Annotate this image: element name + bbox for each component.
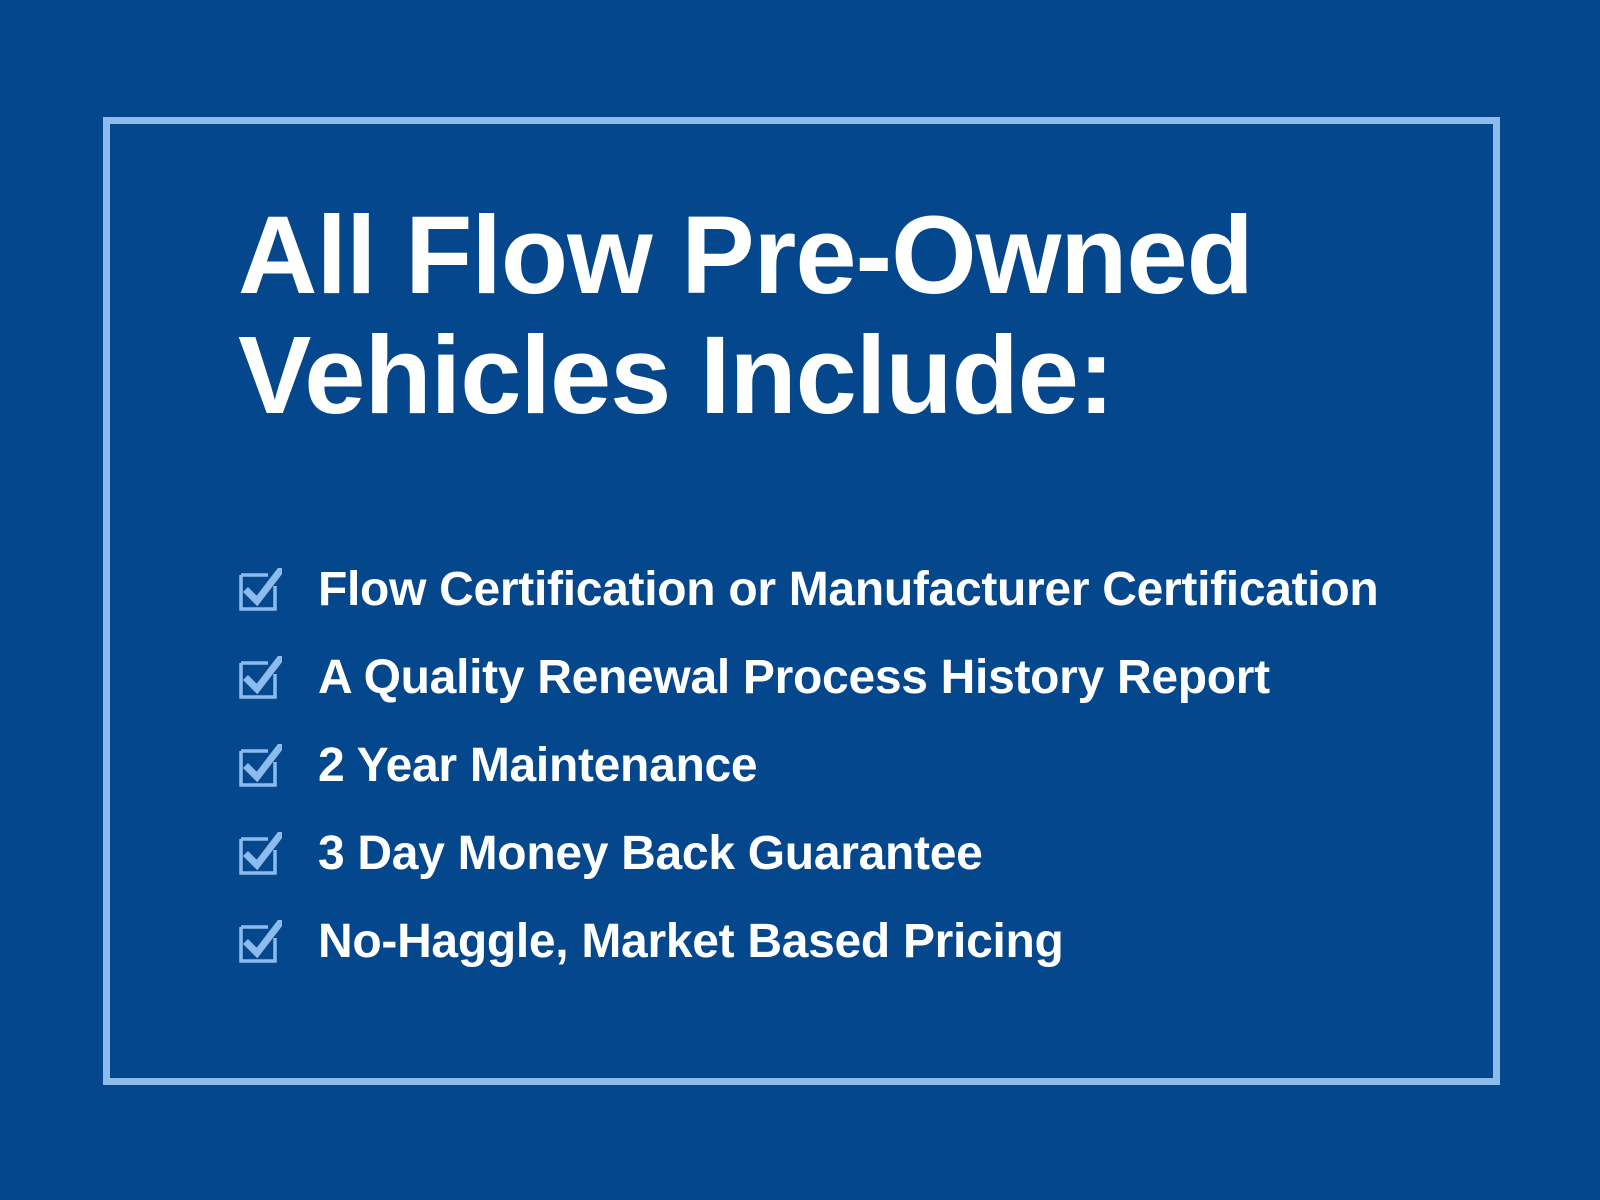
poster-content: All Flow Pre-Owned Vehicles Include: Flo…: [238, 196, 1418, 986]
list-item: No-Haggle, Market Based Pricing: [238, 898, 1418, 986]
checked-box-icon: [238, 656, 282, 700]
list-item-label: A Quality Renewal Process History Report: [318, 652, 1270, 704]
checked-box-icon: [238, 832, 282, 876]
list-item-label: Flow Certification or Manufacturer Certi…: [318, 564, 1378, 616]
list-item: 2 Year Maintenance: [238, 722, 1418, 810]
list-item-label: 2 Year Maintenance: [318, 740, 757, 792]
promo-poster: All Flow Pre-Owned Vehicles Include: Flo…: [0, 0, 1600, 1200]
list-item: A Quality Renewal Process History Report: [238, 634, 1418, 722]
checked-box-icon: [238, 744, 282, 788]
checked-box-icon: [238, 920, 282, 964]
list-item-label: 3 Day Money Back Guarantee: [318, 828, 982, 880]
page-title: All Flow Pre-Owned Vehicles Include:: [238, 196, 1418, 436]
list-item: 3 Day Money Back Guarantee: [238, 810, 1418, 898]
benefits-list: Flow Certification or Manufacturer Certi…: [238, 546, 1418, 986]
list-item-label: No-Haggle, Market Based Pricing: [318, 916, 1064, 968]
checked-box-icon: [238, 568, 282, 612]
list-item: Flow Certification or Manufacturer Certi…: [238, 546, 1418, 634]
